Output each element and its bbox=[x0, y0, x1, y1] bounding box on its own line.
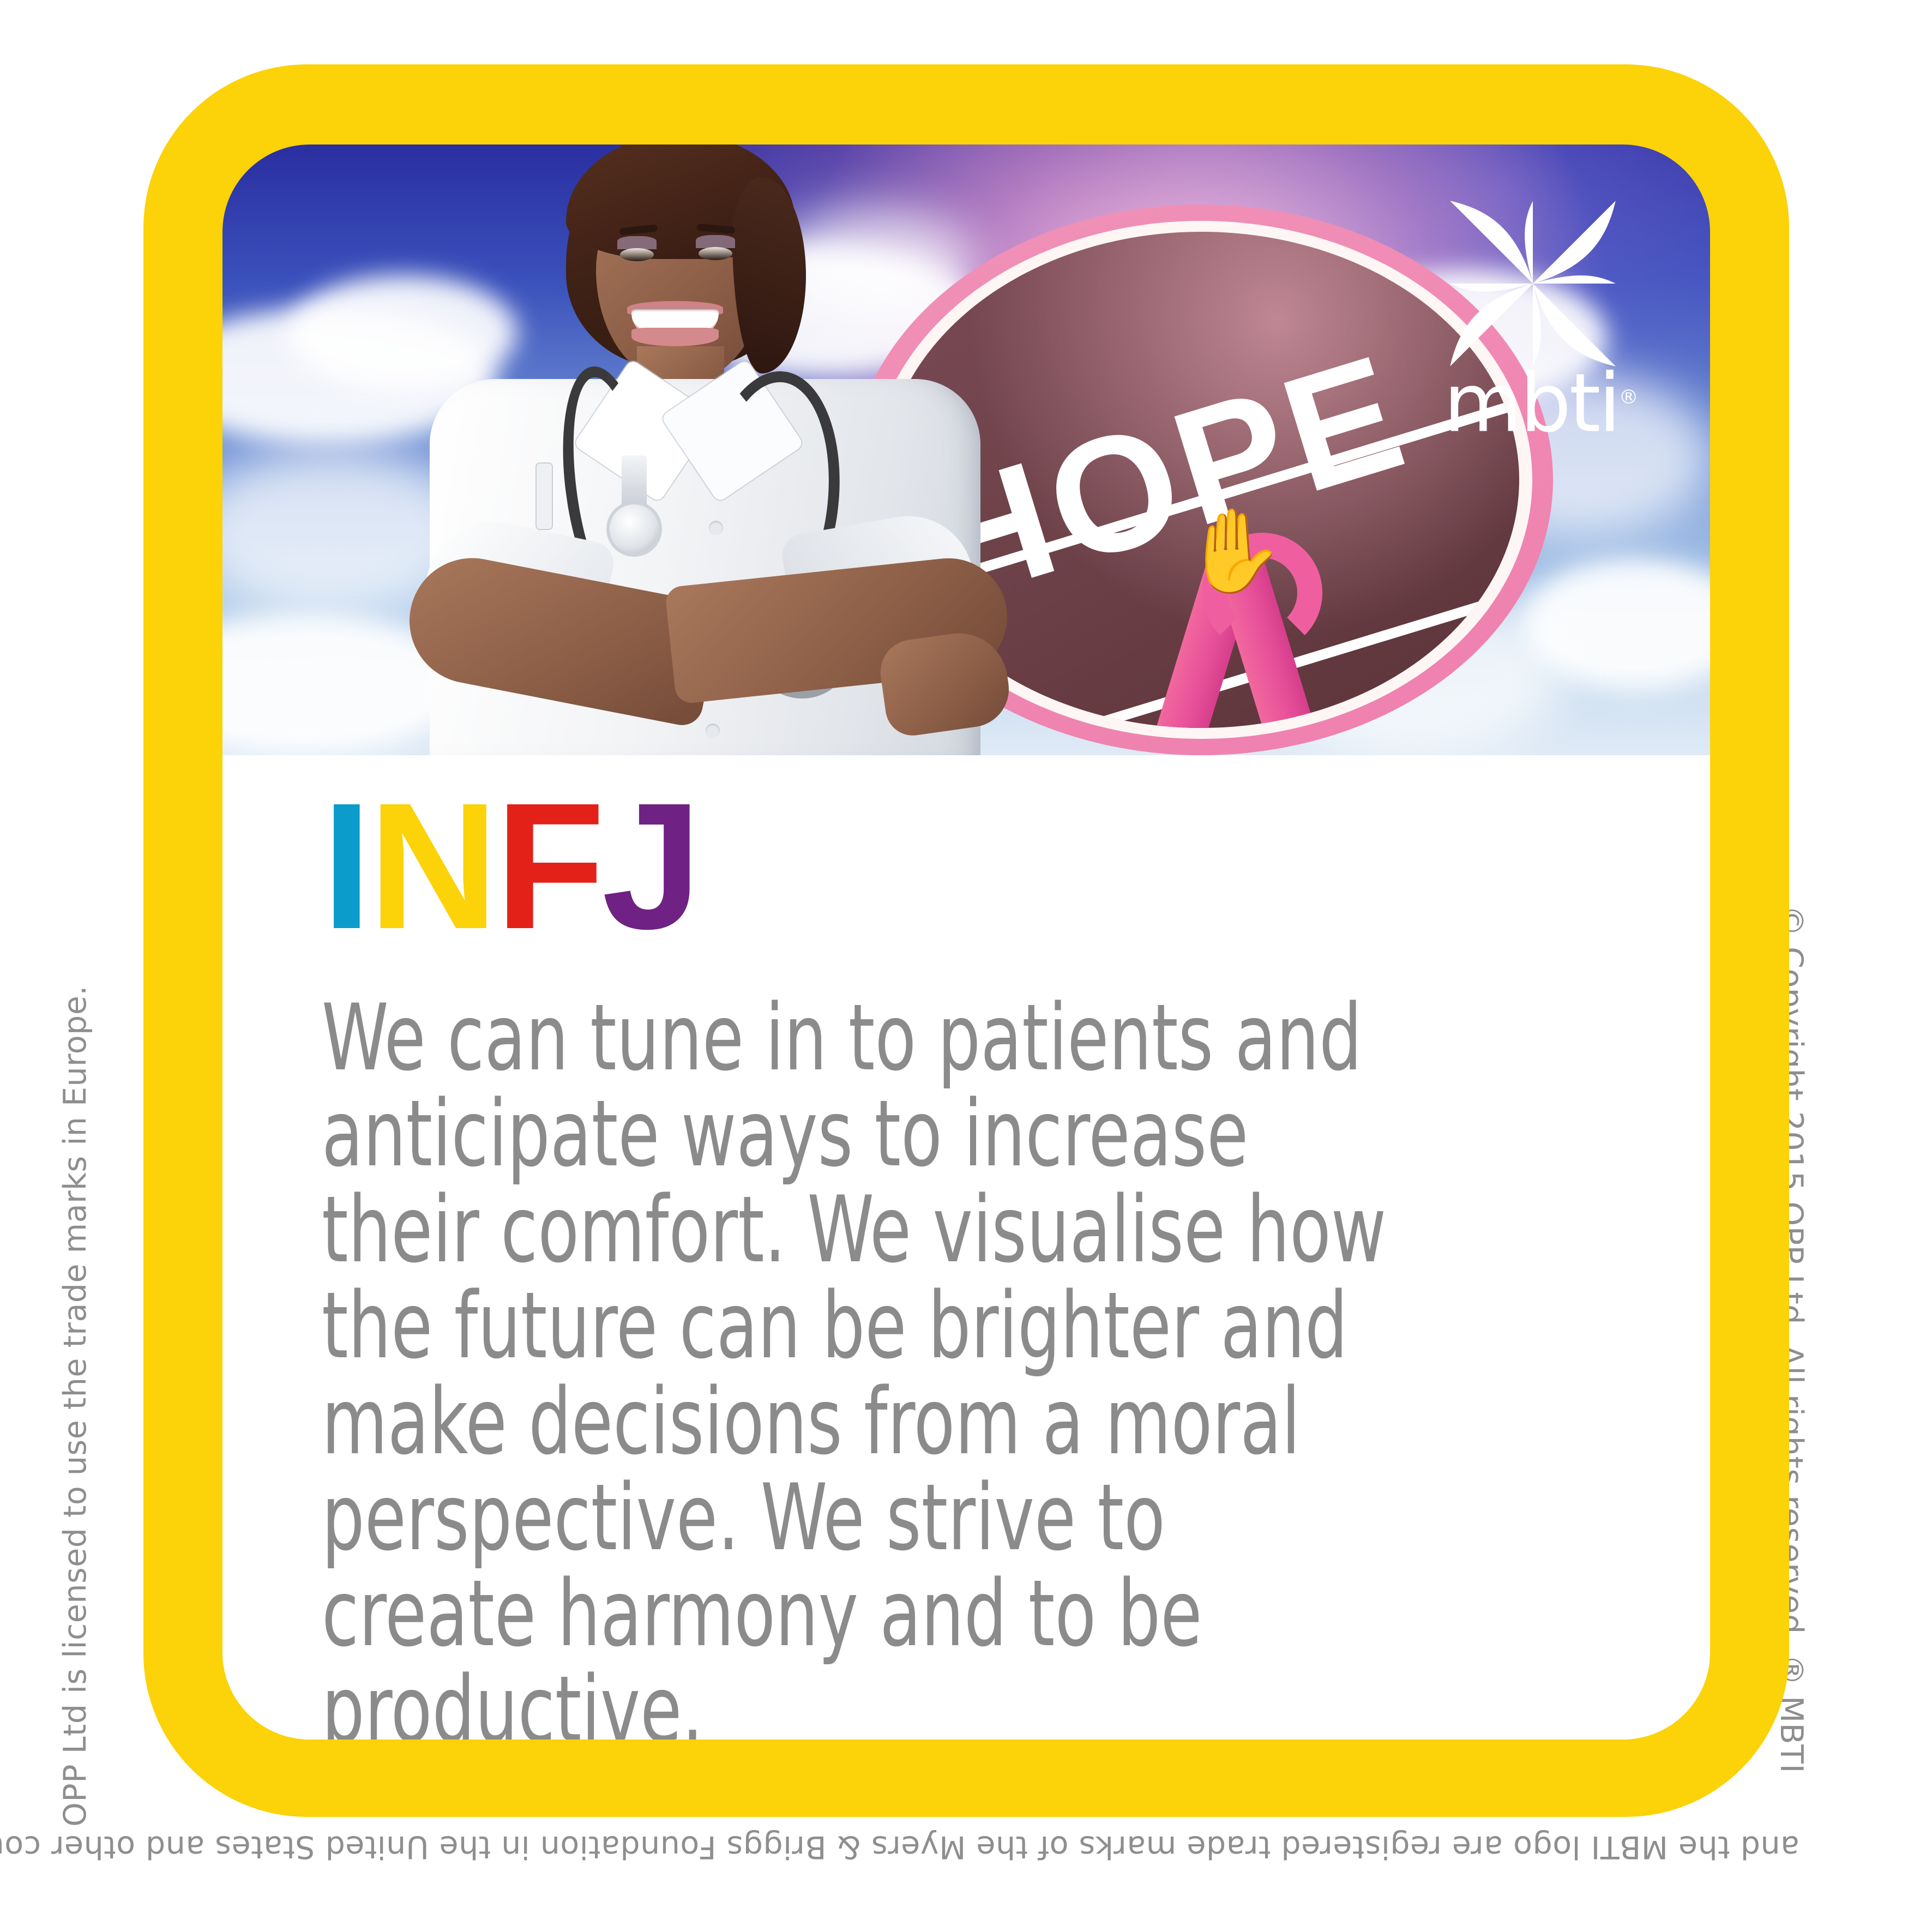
nurse-figure bbox=[375, 145, 1019, 755]
type-description-panel: INFJ We can tune in to patients and anti… bbox=[222, 755, 1710, 1740]
uniform-button bbox=[706, 724, 720, 738]
hero-photo: HOPE ✋ bbox=[222, 145, 1710, 755]
eye bbox=[699, 247, 732, 260]
pocket-pen bbox=[537, 464, 552, 529]
mbti-logo: mbti® bbox=[1416, 194, 1666, 461]
pinwheel-star-icon bbox=[1443, 194, 1623, 374]
type-letter-f: F bbox=[495, 765, 602, 966]
eye bbox=[620, 248, 654, 261]
eyeshadow bbox=[696, 235, 735, 248]
type-letter-j: J bbox=[602, 765, 699, 966]
legal-text-left: OPP Ltd is licensed to use the trade mar… bbox=[57, 985, 93, 1827]
legal-text-bottom: and the MBTI logo are registered trade m… bbox=[0, 1829, 1799, 1865]
helping-hands-icon: ✋ bbox=[1183, 510, 1287, 592]
lower-lip bbox=[631, 328, 719, 346]
type-code: INFJ bbox=[322, 776, 699, 956]
type-description-text: We can tune in to patients and anticipat… bbox=[322, 990, 1395, 1740]
eyeshadow bbox=[617, 236, 657, 249]
mbti-wordmark: mbti® bbox=[1416, 357, 1666, 443]
mbti-type-card: HOPE ✋ bbox=[143, 64, 1789, 1817]
pink-ribbon-icon: ✋ bbox=[1159, 537, 1322, 728]
hair-side bbox=[732, 177, 806, 374]
fob-watch bbox=[610, 504, 659, 553]
type-letter-i: I bbox=[322, 765, 369, 966]
card-inner-surface: HOPE ✋ bbox=[222, 145, 1710, 1740]
type-letter-n: N bbox=[369, 765, 495, 966]
